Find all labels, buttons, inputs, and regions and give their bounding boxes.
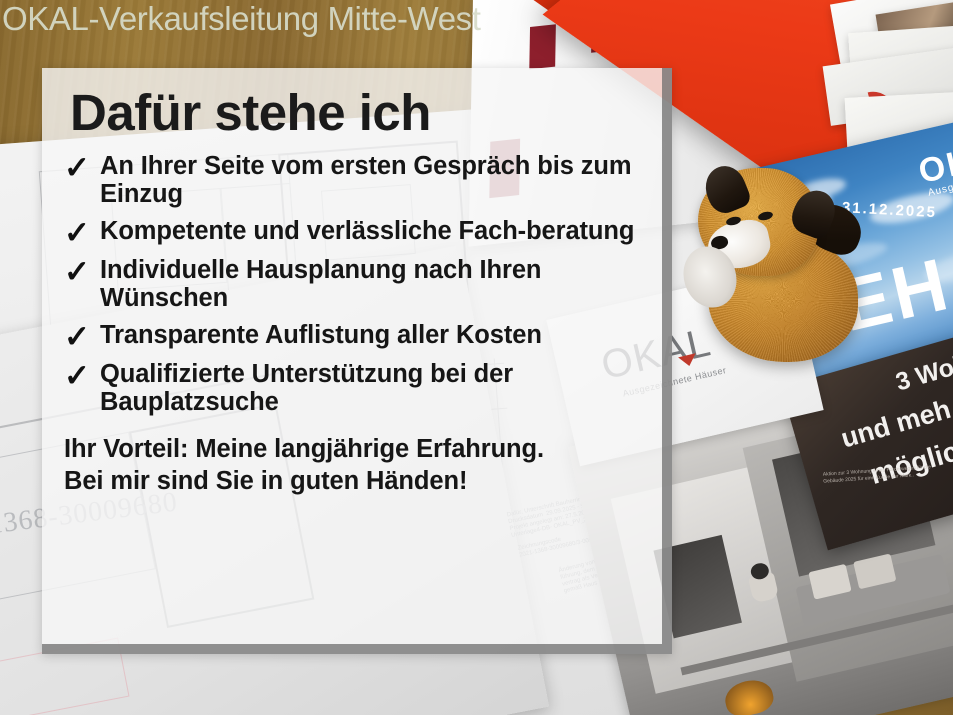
closing-line-1: Ihr Vorteil: Meine langjährige Erfahrung… [64, 433, 640, 466]
model-house-window [529, 24, 556, 69]
list-item: ✓ Individuelle Hausplanung nach Ihren Wü… [58, 256, 640, 313]
benefits-list: ✓ An Ihrer Seite vom ersten Gespräch bis… [58, 152, 640, 417]
list-item: ✓ Qualifizierte Unterstützung bei der Ba… [58, 360, 640, 417]
list-item: ✓ An Ihrer Seite vom ersten Gespräch bis… [58, 152, 640, 209]
closing-statement: Ihr Vorteil: Meine langjährige Erfahrung… [64, 433, 640, 498]
poster-canvas: 214 212 227 2.28 1.45 1368-30009680 Dafü… [0, 0, 953, 715]
list-item-label: Qualifizierte Unterstützung bei der Baup… [100, 360, 640, 417]
list-item-label: Transparente Auflistung aller Kosten [100, 321, 640, 350]
check-icon: ✓ [58, 218, 100, 248]
list-item-label: Kompetente und verlässliche Fach-beratun… [100, 217, 640, 246]
check-icon: ✓ [58, 257, 100, 287]
fox-plush-figurine [690, 160, 865, 365]
card-heading: Dafür stehe ich [70, 86, 640, 140]
brochure-dark-line-1: 3 Woh [893, 349, 953, 397]
list-item: ✓ Transparente Auflistung aller Kosten [58, 321, 640, 352]
list-item-label: An Ihrer Seite vom ersten Gespräch bis z… [100, 152, 640, 209]
closing-line-2: Bei mir sind Sie in guten Händen! [64, 465, 640, 498]
list-item: ✓ Kompetente und verlässliche Fach-berat… [58, 217, 640, 248]
content-card: Dafür stehe ich ✓ An Ihrer Seite vom ers… [42, 68, 672, 654]
page-title: OKAL-Verkaufsleitung Mitte-West [2, 0, 481, 38]
list-item-label: Individuelle Hausplanung nach Ihren Wüns… [100, 256, 640, 313]
check-icon: ✓ [58, 322, 100, 352]
check-icon: ✓ [58, 153, 100, 183]
check-icon: ✓ [58, 361, 100, 391]
